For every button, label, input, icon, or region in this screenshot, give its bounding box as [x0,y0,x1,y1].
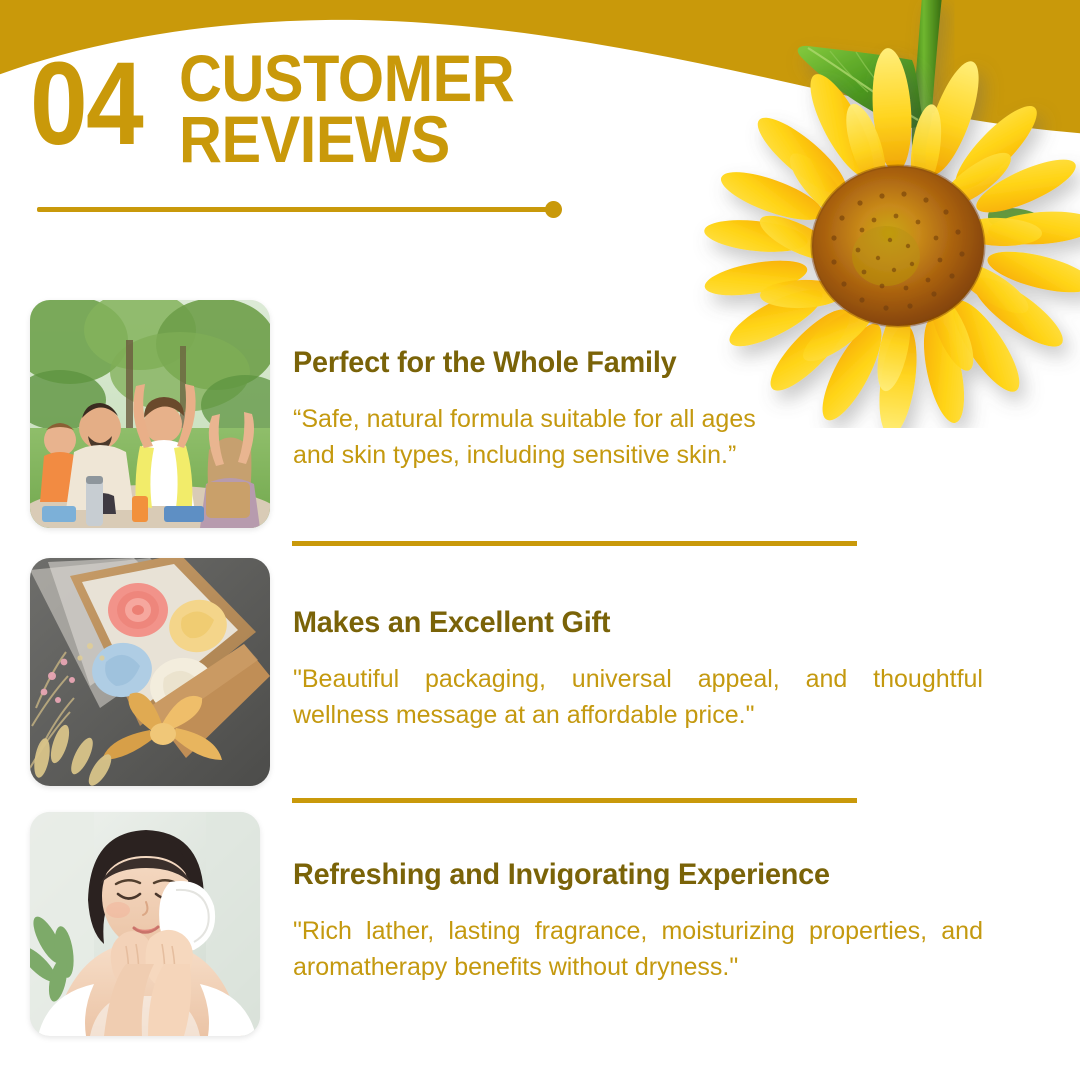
page-title-line-1: CUSTOMER [179,48,514,109]
review-quote: "Rich lather, lasting fragrance, moistur… [293,914,983,985]
header-rule-dot-icon [545,201,562,218]
page-title-line-2: REVIEWS [179,109,514,170]
review-title: Perfect for the Whole Family [293,346,965,380]
gift-box-soaps-photo [30,558,270,786]
divider-2 [292,798,857,803]
review-image-gift [30,558,270,786]
review-text-block: Makes an Excellent Gift "Beautiful packa… [293,606,993,733]
family-picnic-photo [30,300,270,528]
review-image-skincare [30,812,260,1036]
page-title: CUSTOMER REVIEWS [179,48,551,169]
review-title: Makes an Excellent Gift [293,606,965,640]
slide-canvas: 04 CUSTOMER REVIEWS [0,0,1080,1080]
header-rule [37,207,553,212]
divider-1 [292,541,857,546]
review-text-block: Refreshing and Invigorating Experience "… [293,858,993,985]
woman-skincare-towel-photo [30,812,260,1036]
review-text-block: Perfect for the Whole Family “Safe, natu… [293,346,993,473]
review-quote: “Safe, natural formula suitable for all … [293,402,793,473]
review-image-family [30,300,270,528]
review-title: Refreshing and Invigorating Experience [293,858,965,892]
page-header: 04 CUSTOMER REVIEWS [30,46,552,169]
review-quote: "Beautiful packaging, universal appeal, … [293,662,983,733]
section-number: 04 [30,54,142,155]
